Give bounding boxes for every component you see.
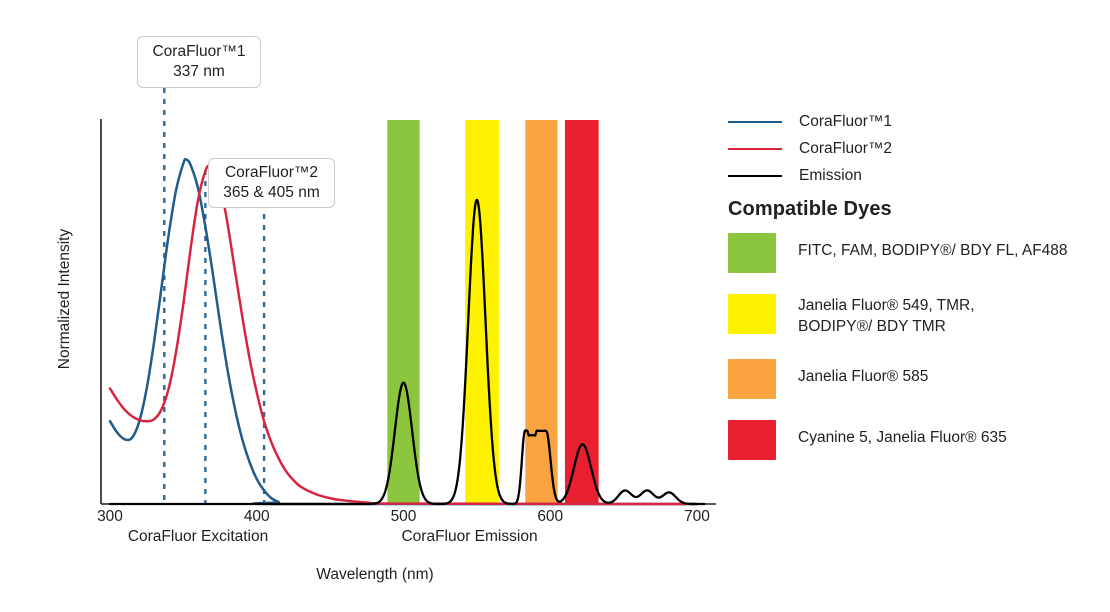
x-tick-600: 600: [520, 508, 580, 526]
x-axis-title: Wavelength (nm): [275, 566, 475, 584]
y-axis-title: Normalized Intensity: [56, 204, 74, 394]
red-band: [565, 120, 599, 504]
marker-lines-group: [164, 88, 264, 504]
dye-row-4: Cyanine 5, Janelia Fluor® 635: [728, 420, 1110, 460]
legend-swatch-line: [728, 175, 782, 177]
legend-swatch-line: [728, 121, 782, 123]
legend-swatch-line: [728, 148, 782, 150]
x-tick-400: 400: [227, 508, 287, 526]
compatible-dyes-title: Compatible Dyes: [728, 198, 892, 221]
callout-corafluor2: CoraFluor™2 365 & 405 nm: [208, 158, 335, 208]
dye-label: FITC, FAM, BODIPY®/ BDY FL, AF488: [798, 233, 1068, 262]
dye-label: Janelia Fluor® 585: [798, 359, 928, 388]
legend-item-1: CoraFluor™1: [728, 108, 1108, 135]
legend-item-label: Emission: [799, 167, 862, 185]
callout-corafluor1-title: CoraFluor™1: [152, 42, 245, 62]
legend-item-2: CoraFluor™2: [728, 135, 1108, 162]
dye-row-2: Janelia Fluor® 549, TMR,BODIPY®/ BDY TMR: [728, 294, 1110, 338]
callout-corafluor1-value: 337 nm: [173, 62, 225, 82]
orange-band: [525, 120, 557, 504]
dye-label: Janelia Fluor® 549, TMR,BODIPY®/ BDY TMR: [798, 294, 975, 338]
x-axis-sublabel-excitation: CoraFluor Excitation: [88, 528, 308, 546]
x-tick-500: 500: [374, 508, 434, 526]
yellow-band: [465, 120, 499, 504]
chart-page: CoraFluor™1 337 nm CoraFluor™2 365 & 405…: [0, 0, 1110, 612]
legend-item-label: CoraFluor™2: [799, 140, 892, 158]
dye-row-1: FITC, FAM, BODIPY®/ BDY FL, AF488: [728, 233, 1110, 273]
dye-color-swatch: [728, 359, 776, 399]
callout-corafluor2-title: CoraFluor™2: [225, 163, 318, 183]
compatible-dyes-list: FITC, FAM, BODIPY®/ BDY FL, AF488Janelia…: [728, 233, 1110, 481]
legend-item-3: Emission: [728, 162, 1108, 189]
legend-item-label: CoraFluor™1: [799, 113, 892, 131]
dye-color-swatch: [728, 420, 776, 460]
dye-row-3: Janelia Fluor® 585: [728, 359, 1110, 399]
x-axis-sublabel-emission: CoraFluor Emission: [360, 528, 580, 546]
x-tick-700: 700: [667, 508, 727, 526]
x-tick-300: 300: [80, 508, 140, 526]
callout-corafluor1: CoraFluor™1 337 nm: [137, 36, 261, 88]
dye-color-swatch: [728, 294, 776, 334]
callout-corafluor2-value: 365 & 405 nm: [223, 183, 320, 203]
series-legend: CoraFluor™1CoraFluor™2Emission: [728, 108, 1108, 189]
dye-color-swatch: [728, 233, 776, 273]
dye-label: Cyanine 5, Janelia Fluor® 635: [798, 420, 1007, 449]
